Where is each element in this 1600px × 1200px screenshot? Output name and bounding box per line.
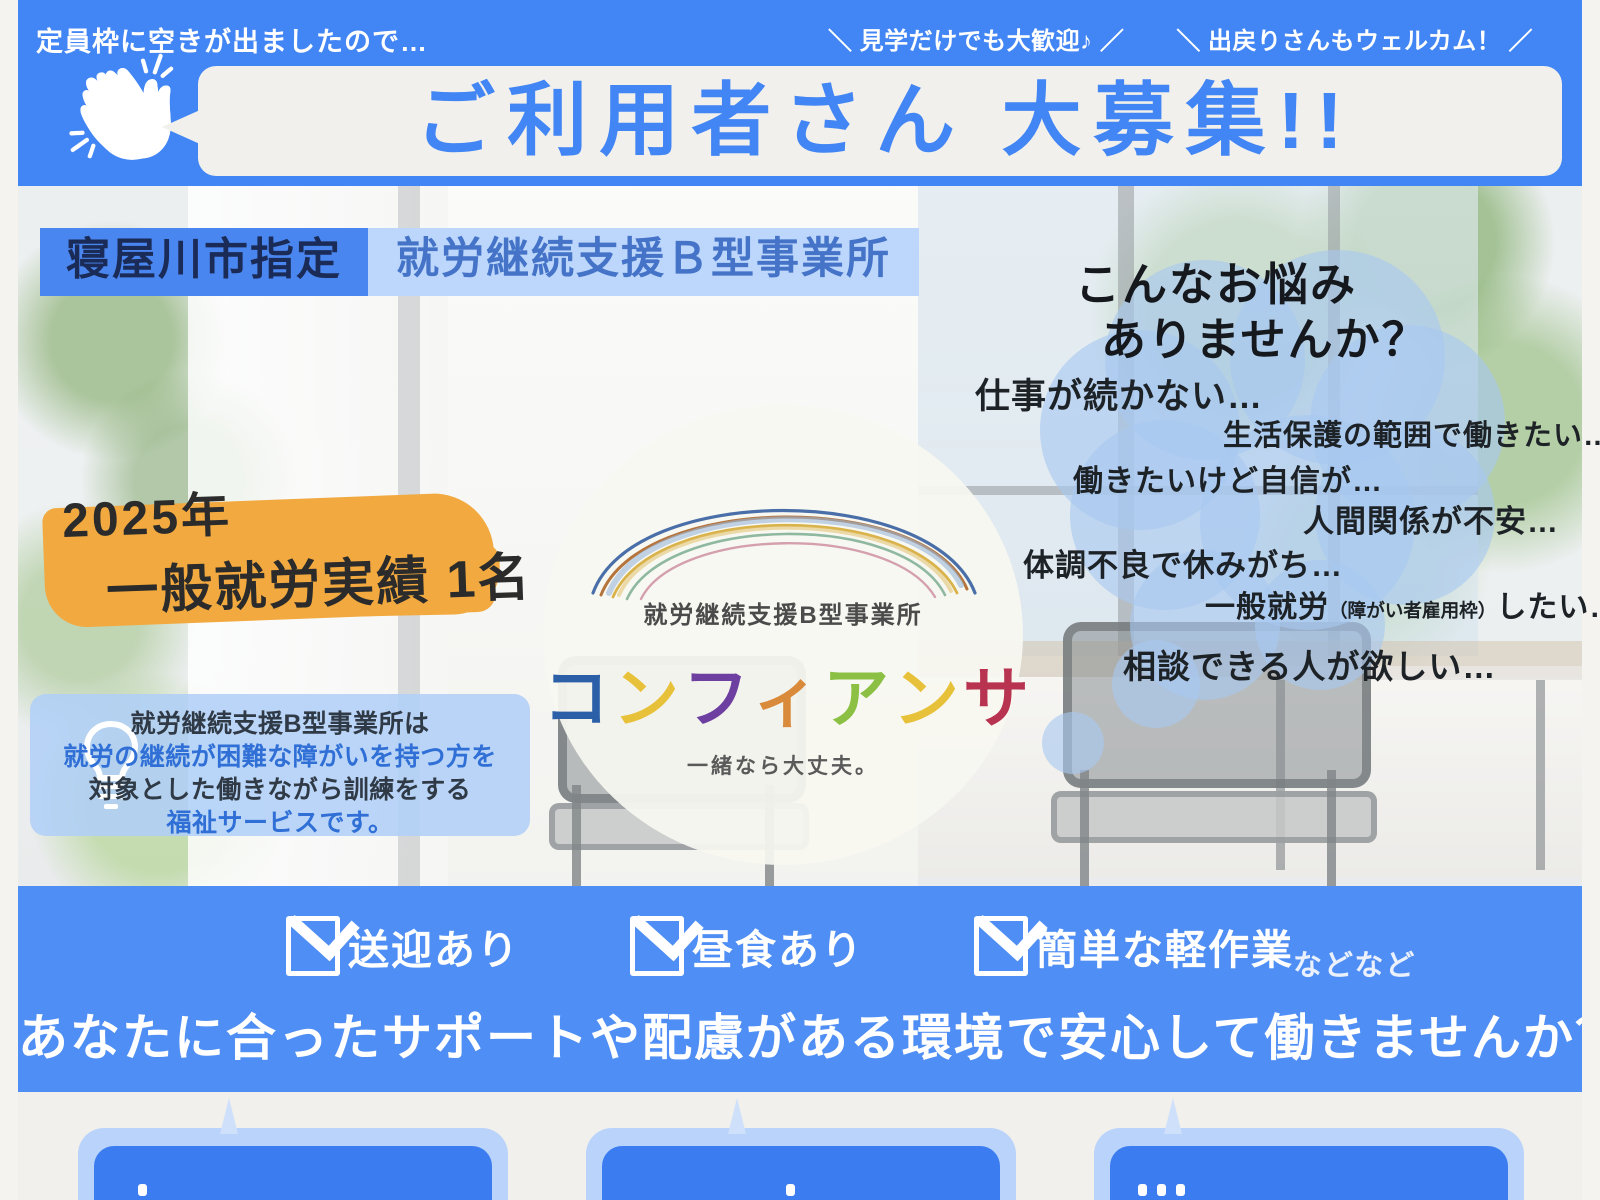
company-logo: 就労継続支援B型事業所 コンフィアンサ 一緒なら大丈夫。 <box>543 405 1023 865</box>
logo-name-char: フ <box>683 645 753 741</box>
worry-item-note: （障がい者雇用枠） <box>1329 600 1496 621</box>
mini-tag-return: ＼ 出戻りさんもウェルカム！ ／ <box>1176 21 1533 56</box>
header-band: 定員枠に空きが出ましたので… ＼ 見学だけでも大歓迎♪ ／ ＼ 出戻りさんもウェ… <box>18 0 1582 186</box>
feature-item-lunch: 昼食あり <box>630 916 864 976</box>
worry-title-line2: ありませんか？ <box>1075 313 1545 368</box>
info-line-2: 就労の継続が困難な障がいを持つ方を <box>30 741 530 774</box>
info-box-text: 就労継続支援B型事業所は 就労の継続が困難な障がいを持つ方を 対象とした働きなが… <box>30 708 530 840</box>
worry-title: こんなお悩み ありませんか？ <box>1075 258 1545 368</box>
mini-tag-visit: ＼ 見学だけでも大歓迎♪ ／ <box>828 21 1124 56</box>
bottom-card[interactable] <box>78 1128 508 1200</box>
badge-row: 寝屋川市指定 就労継続支援Ｂ型事業所 <box>40 228 919 296</box>
worry-item-suffix: したい… <box>1496 591 1600 624</box>
features-tagline: あなたに合ったサポートや配慮がある環境で安心して働きませんか？ <box>18 998 1582 1070</box>
features-list: 送迎あり 昼食あり 簡単な軽作業 <box>286 908 1466 984</box>
feature-item-transport: 送迎あり <box>286 916 520 976</box>
logo-name-char: ン <box>893 645 963 741</box>
feature-label: 昼食あり <box>692 916 864 976</box>
card-ornament <box>786 1184 795 1196</box>
logo-name-char: ィ <box>753 645 823 741</box>
checkbox-checked-icon <box>286 916 340 976</box>
worry-title-line1: こんなお悩み <box>1075 259 1357 310</box>
feature-item-light-work: 簡単な軽作業 <box>974 916 1294 976</box>
page-title: ご利用者さん 大募集!! <box>405 81 1355 161</box>
worry-item: 相談できる人が欲しい… <box>1123 640 1496 688</box>
logo-name-char: ン <box>613 645 683 741</box>
logo-tagline: 一緒なら大丈夫。 <box>543 750 1023 780</box>
headline-bubble: ご利用者さん 大募集!! <box>198 66 1562 176</box>
worry-item-main: 一般就労 <box>1205 591 1329 624</box>
feature-label: 送迎あり <box>348 916 520 976</box>
info-line-3: 対象とした働きながら訓練をする <box>30 774 530 807</box>
feature-label: 簡単な軽作業 <box>1036 916 1294 976</box>
worry-item: 体調不良で休みがち… <box>1023 540 1343 585</box>
bottom-card[interactable] <box>1094 1128 1524 1200</box>
badge-city: 寝屋川市指定 <box>40 228 368 296</box>
card-ornament <box>1138 1184 1185 1196</box>
poster-root: 定員枠に空きが出ましたので… ＼ 見学だけでも大歓迎♪ ／ ＼ 出戻りさんもウェ… <box>0 0 1600 1200</box>
achievement-year: 2025年 <box>61 475 233 551</box>
achievement-highlight: 2025年 一般就労実績 1名 <box>34 470 504 630</box>
photo-desk-leg <box>1536 680 1545 870</box>
bottom-card[interactable] <box>586 1128 1016 1200</box>
worry-item: 人間関係が不安… <box>1303 496 1559 541</box>
achievement-result: 一般就労実績 1名 <box>105 535 533 625</box>
bottom-cards-strip <box>18 1092 1582 1200</box>
worry-item: 働きたいけど自信が… <box>1073 456 1383 500</box>
features-etc: などなど <box>1293 942 1416 984</box>
features-band: 送迎あり 昼食あり 簡単な軽作業 などなど あなたに合ったサポートや配慮がある環… <box>18 886 1582 1092</box>
worry-item-general-employment: 一般就労（障がい者雇用枠）したい… <box>1205 582 1600 626</box>
logo-name: コンフィアンサ <box>543 645 1023 741</box>
checkbox-checked-icon <box>974 916 1028 976</box>
info-box: 就労継続支援B型事業所は 就労の継続が困難な障がいを持つ方を 対象とした働きなが… <box>30 694 530 836</box>
logo-name-char: コ <box>543 645 613 741</box>
checkbox-checked-icon <box>630 916 684 976</box>
card-ornament <box>138 1184 147 1196</box>
worry-cloud-bubble-tiny <box>1042 712 1104 774</box>
worry-item: 仕事が続かない… <box>975 368 1263 419</box>
worry-item: 生活保護の範囲で働きたい… <box>1223 412 1600 454</box>
info-line-4: 福祉サービスです。 <box>30 807 530 840</box>
logo-name-char: ア <box>823 645 893 741</box>
logo-subtitle: 就労継続支援B型事業所 <box>543 595 1023 630</box>
badge-service-type: 就労継続支援Ｂ型事業所 <box>368 228 919 296</box>
info-line-1: 就労継続支援B型事業所は <box>30 708 530 741</box>
header-mini-tags: ＼ 見学だけでも大歓迎♪ ／ ＼ 出戻りさんもウェルカム！ ／ <box>828 22 1568 54</box>
rainbow-arc-icon <box>583 453 983 603</box>
